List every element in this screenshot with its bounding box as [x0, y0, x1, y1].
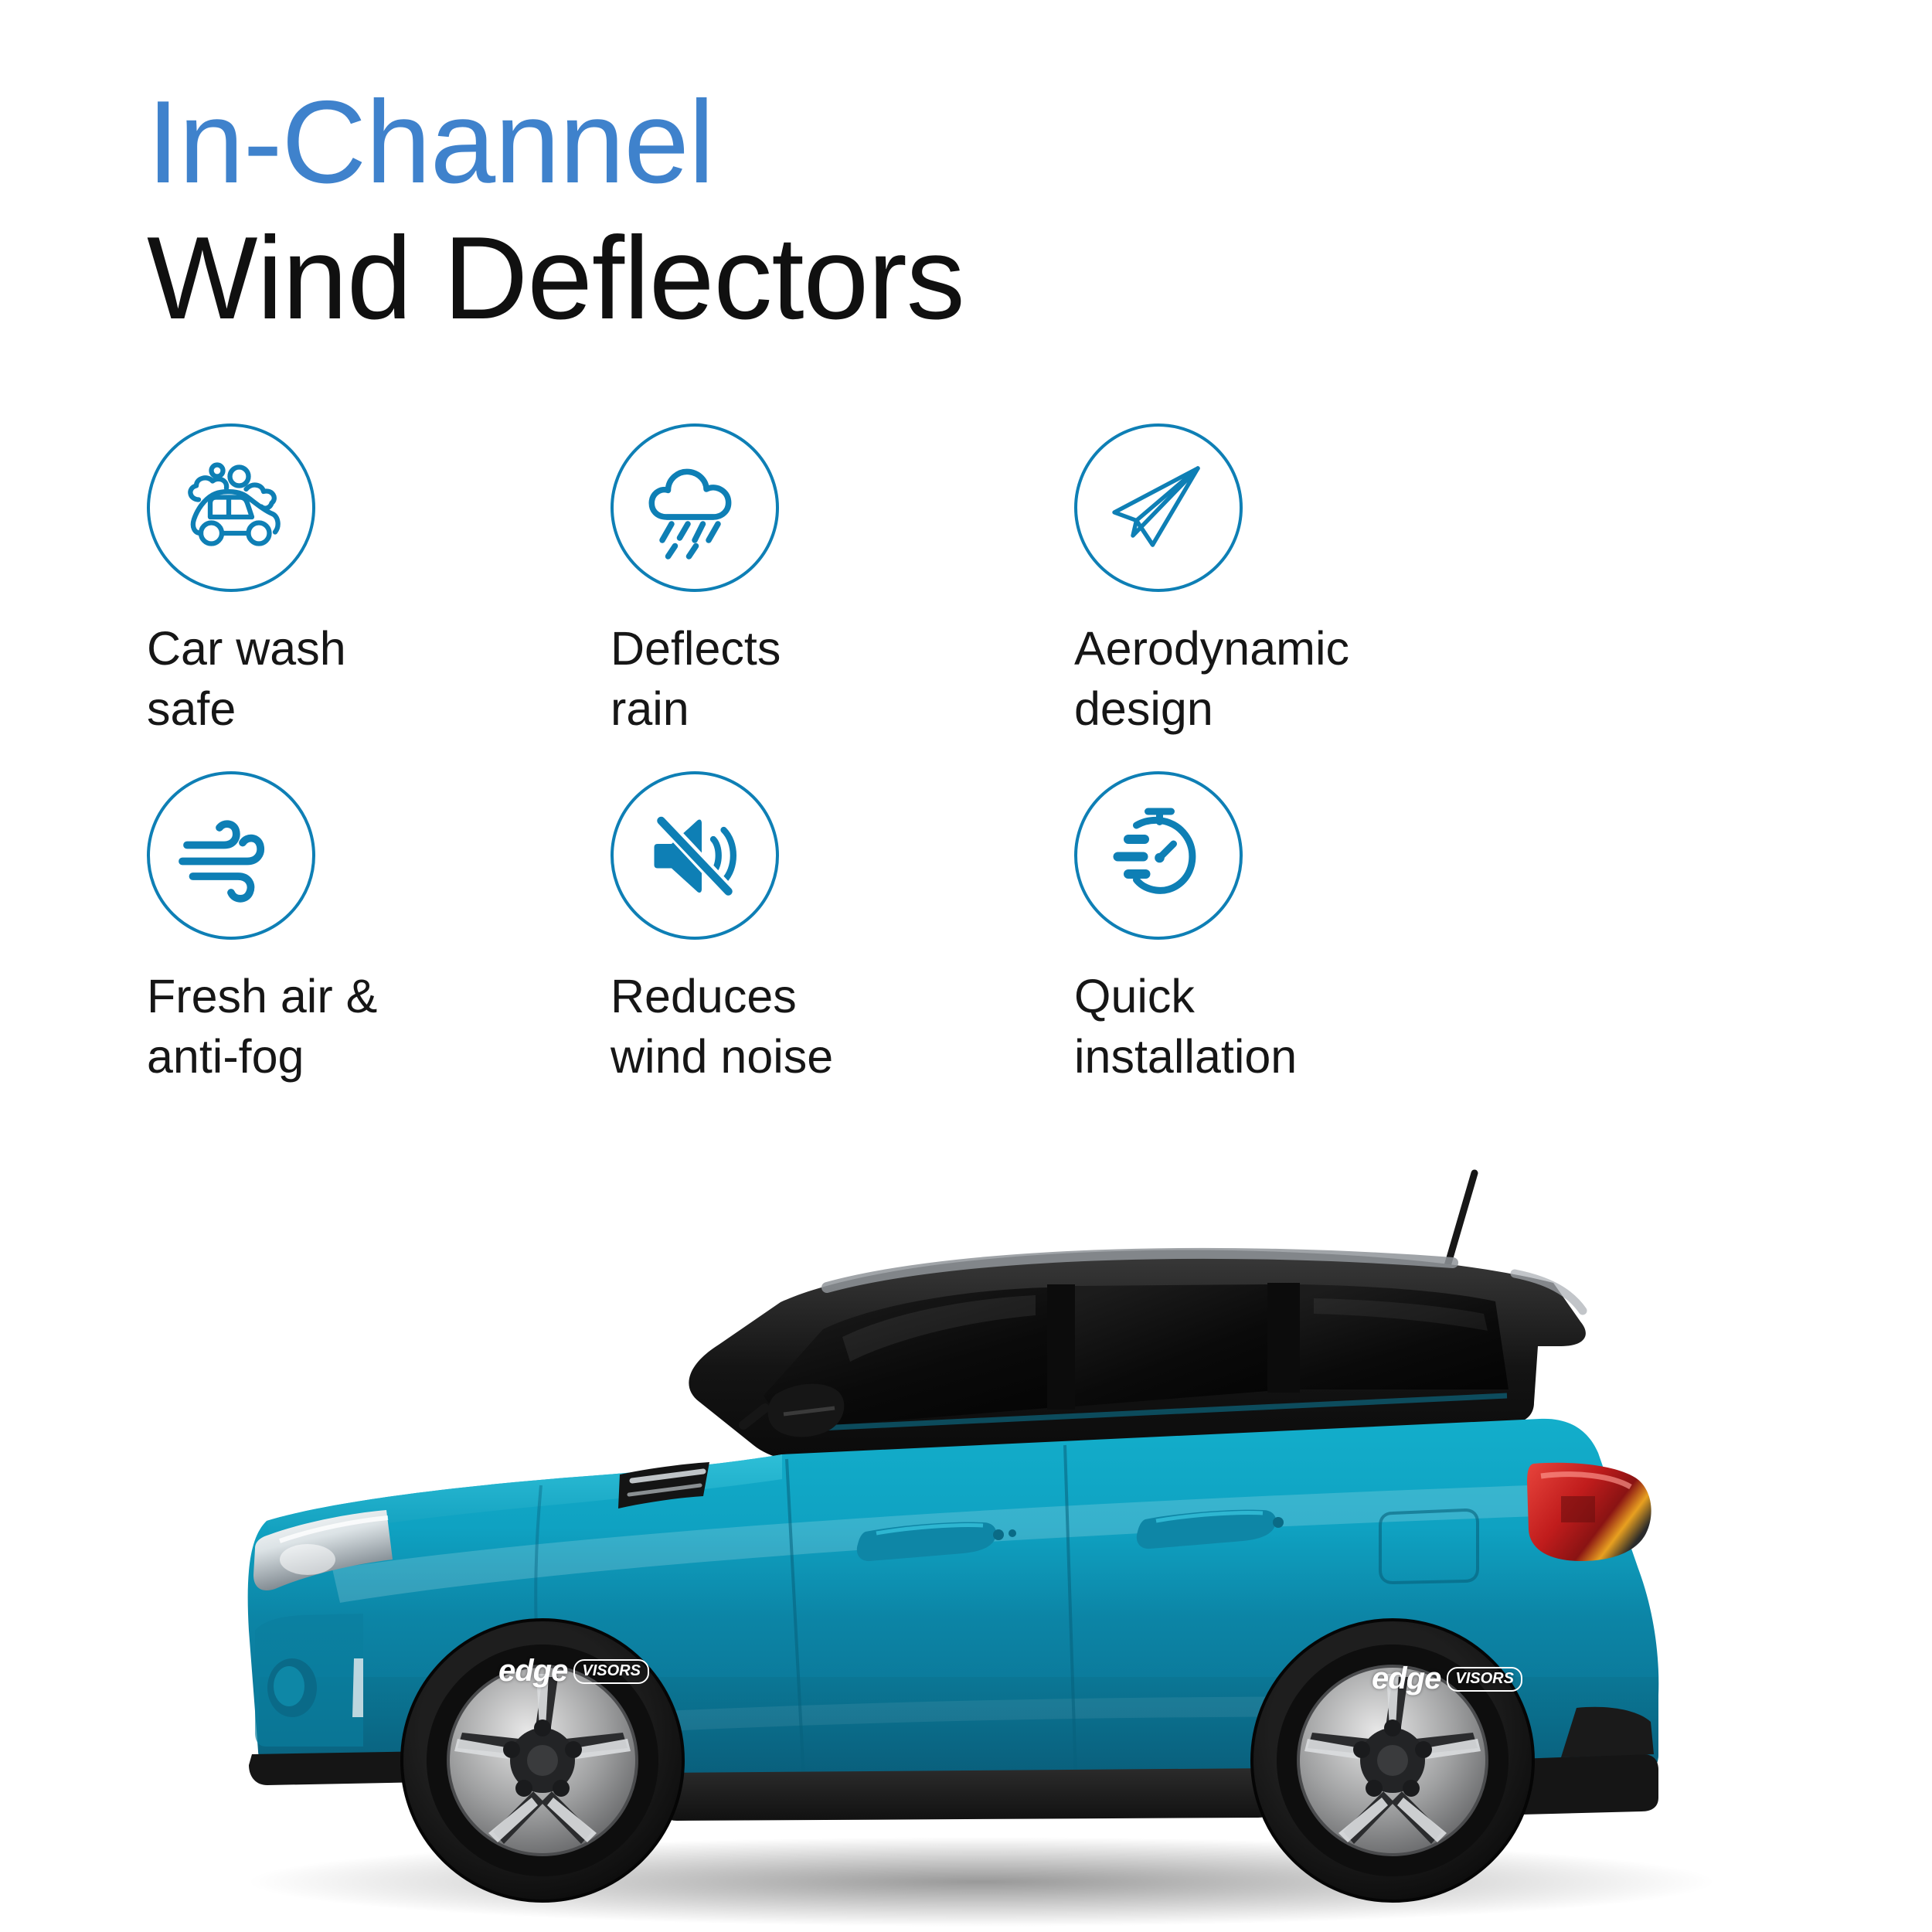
rain-cloud-icon	[611, 423, 779, 592]
feature-label: Car wash safe	[147, 618, 580, 739]
feature-quick-installation: Quick installation	[1074, 771, 1507, 1087]
side-sill	[662, 1768, 1274, 1821]
feature-label: Reduces wind noise	[611, 966, 1043, 1087]
feature-label: Quick installation	[1074, 966, 1507, 1087]
feature-grid: Car wash safe Deflects rain	[147, 423, 1461, 1087]
stopwatch-icon	[1074, 771, 1243, 940]
wheel-rear	[1252, 1620, 1533, 1901]
feature-car-wash-safe: Car wash safe	[147, 423, 580, 739]
c-pillar	[1267, 1283, 1300, 1393]
speaker-muted-icon	[611, 771, 779, 940]
car-wash-icon	[147, 423, 315, 592]
feature-label: Aerodynamic design	[1074, 618, 1507, 739]
feature-aerodynamic-design: Aerodynamic design	[1074, 423, 1507, 739]
feature-label: Deflects rain	[611, 618, 1043, 739]
wind-icon	[147, 771, 315, 940]
window-rear-door	[1074, 1284, 1267, 1406]
bumper-slot	[352, 1658, 363, 1717]
feature-fresh-air-anti-fog: Fresh air & anti-fog	[147, 771, 580, 1087]
title-line-in-channel: In-Channel	[147, 83, 964, 201]
feature-deflects-rain: Deflects rain	[611, 423, 1043, 739]
b-pillar	[1047, 1284, 1075, 1410]
page-title: In-Channel Wind Deflectors	[147, 83, 964, 337]
vehicle-photo	[0, 1136, 1932, 1932]
paper-plane-icon	[1074, 423, 1243, 592]
title-line-wind-deflectors: Wind Deflectors	[147, 219, 964, 337]
rear-bumper	[1518, 1754, 1658, 1815]
feature-label: Fresh air & anti-fog	[147, 966, 580, 1087]
feature-reduces-wind-noise: Reduces wind noise	[611, 771, 1043, 1087]
wheel-front	[402, 1620, 683, 1901]
